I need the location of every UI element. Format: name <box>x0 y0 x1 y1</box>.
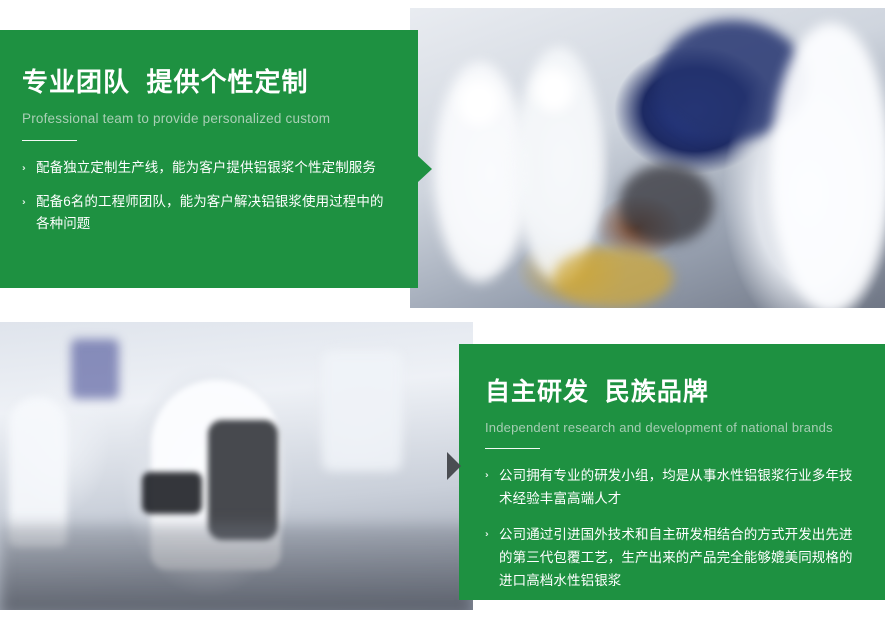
photo-region-face-left <box>458 80 500 126</box>
panel-1-bullet-list: › 配备独立定制生产线，能为客户提供铝银浆个性定制服务 › 配备6名的工程师团队… <box>22 157 396 235</box>
panel-independent-rnd: 自主研发 民族品牌 Independent research and devel… <box>459 344 885 600</box>
photo-region-foreground-bench <box>0 524 473 610</box>
list-item: › 公司拥有专业的研发小组，均是从事水性铝银浆行业多年技术经验丰富高端人才 <box>485 464 865 510</box>
photo-region-cabinet <box>322 351 402 471</box>
chevron-right-icon: › <box>22 193 36 212</box>
panel-1-subtitle: Professional team to provide personalize… <box>22 111 396 127</box>
microscope-lab-photo <box>0 322 473 610</box>
photo-region-microscope <box>208 420 278 540</box>
promo-page: 专业团队 提供个性定制 Professional team to provide… <box>0 0 885 631</box>
list-item: › 配备6名的工程师团队，能为客户解决铝银浆使用过程中的各种问题 <box>22 191 396 235</box>
list-item: › 配备独立定制生产线，能为客户提供铝银浆个性定制服务 <box>22 157 396 179</box>
photo-region-worker-right <box>771 23 885 308</box>
photo-region-microscope-base <box>142 472 202 514</box>
panel-1-pointer-arrow-icon <box>418 156 432 182</box>
list-item-label: 公司通过引进国外技术和自主研发相结合的方式开发出先进的第三代包覆工艺，生产出来的… <box>499 523 865 592</box>
panel-2-bullet-list: › 公司拥有专业的研发小组，均是从事水性铝银浆行业多年技术经验丰富高端人才 › … <box>485 464 865 592</box>
panel-2-divider <box>485 448 540 449</box>
list-item-label: 配备6名的工程师团队，能为客户解决铝银浆使用过程中的各种问题 <box>36 191 396 235</box>
photo-region-equipment <box>619 164 714 244</box>
photo-region-face-mid <box>534 68 574 112</box>
panel-1-title: 专业团队 提供个性定制 <box>22 68 396 98</box>
chevron-right-icon: › <box>485 466 499 485</box>
list-item: › 公司通过引进国外技术和自主研发相结合的方式开发出先进的第三代包覆工艺，生产出… <box>485 523 865 592</box>
chevron-right-icon: › <box>22 159 36 178</box>
photo-region-background-person <box>71 339 119 399</box>
panel-2-title: 自主研发 民族品牌 <box>485 378 865 407</box>
photo-region-machine-yellow <box>553 248 673 308</box>
panel-2-pointer-arrow-icon <box>447 452 461 480</box>
cleanroom-engineers-photo <box>410 8 885 308</box>
panel-2-subtitle: Independent research and development of … <box>485 420 865 436</box>
list-item-label: 公司拥有专业的研发小组，均是从事水性铝银浆行业多年技术经验丰富高端人才 <box>499 464 865 510</box>
list-item-label: 配备独立定制生产线，能为客户提供铝银浆个性定制服务 <box>36 157 376 179</box>
panel-1-divider <box>22 140 77 141</box>
panel-professional-team: 专业团队 提供个性定制 Professional team to provide… <box>0 30 418 288</box>
chevron-right-icon: › <box>485 525 499 544</box>
